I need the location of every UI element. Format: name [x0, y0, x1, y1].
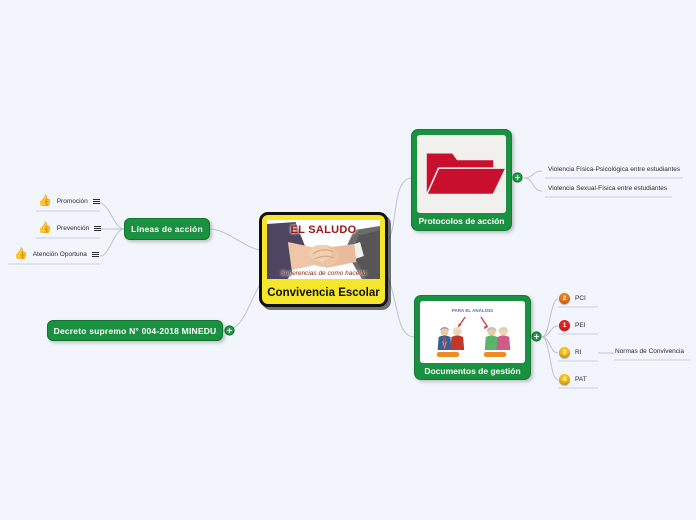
hamburger-icon[interactable] [94, 225, 101, 232]
leaf-pci[interactable]: 2 PCI [559, 293, 586, 304]
expand-node-icon[interactable] [224, 325, 235, 336]
node-decreto-label: Decreto supremo N° 004-2018 MINEDU [54, 326, 217, 336]
badge-number-2: 2 [559, 293, 570, 304]
node-decreto-supremo[interactable]: Decreto supremo N° 004-2018 MINEDU [47, 320, 223, 341]
node-lineas-label: Líneas de acción [131, 224, 203, 234]
leaf-violencia-fisica-psicologica[interactable]: Violencia Física-Psicológica entre estud… [548, 166, 680, 173]
leaf-violencia-sexual-fisica[interactable]: Violencia Sexual-Física entre estudiante… [548, 185, 667, 192]
protocolos-thumbnail [417, 135, 506, 213]
node-protocolos-de-accion[interactable]: Protocolos de acción [411, 129, 512, 231]
leaf-ri[interactable]: 3 RI [559, 347, 582, 358]
leaf-pei[interactable]: 1 PEI [559, 320, 585, 331]
leaf-pei-label: PEI [575, 322, 585, 329]
leaf-violencia-sexual-fisica-label: Violencia Sexual-Física entre estudiante… [548, 185, 667, 192]
leaf-violencia-fisica-psicologica-label: Violencia Física-Psicológica entre estud… [548, 166, 680, 173]
badge-number-1: 1 [559, 320, 570, 331]
leaf-promocion-label: Promoción [57, 198, 88, 205]
leaf-pat-label: PAT [575, 376, 587, 383]
hamburger-icon[interactable] [92, 251, 99, 258]
leaf-prevencion-label: Prevención [57, 225, 90, 232]
leaf-atencion-oportuna[interactable]: 👍 Atención Oportuna [14, 249, 99, 260]
leaf-ri-label: RI [575, 349, 582, 356]
node-documentos-label: Documentos de gestión [420, 363, 525, 380]
badge-number-3: 3 [559, 347, 570, 358]
svg-text:PARA EL ANÁLISIS: PARA EL ANÁLISIS [452, 307, 493, 313]
central-node-image: EL SALUDO Sugerencias de como hacerlo [267, 220, 380, 279]
central-node-convivencia-escolar[interactable]: EL SALUDO Sugerencias de como hacerlo Co… [259, 212, 388, 307]
expand-node-icon[interactable] [512, 172, 523, 183]
leaf-pat[interactable]: 4 PAT [559, 374, 587, 385]
two-couples-illustration: PARA EL ANÁLISIS [420, 301, 525, 363]
badge-number-4: 4 [559, 374, 570, 385]
red-open-folder-icon [417, 135, 506, 213]
leaf-normas-de-convivencia[interactable]: Normas de Convivencia [615, 348, 684, 355]
mindmap-canvas[interactable]: EL SALUDO Sugerencias de como hacerlo Co… [0, 0, 696, 520]
leaf-prevencion[interactable]: 👍 Prevención [38, 223, 101, 234]
node-lineas-de-accion[interactable]: Líneas de acción [124, 218, 210, 240]
thumbs-up-icon: 👍 [14, 249, 28, 260]
central-image-title: EL SALUDO [267, 224, 380, 236]
hamburger-icon[interactable] [93, 198, 100, 205]
documentos-thumbnail: PARA EL ANÁLISIS [420, 301, 525, 363]
expand-node-icon[interactable] [531, 331, 542, 342]
thumbs-up-icon: 👍 [38, 196, 52, 207]
leaf-pci-label: PCI [575, 295, 586, 302]
node-documentos-de-gestion[interactable]: PARA EL ANÁLISIS [414, 295, 531, 380]
central-image-subtitle: Sugerencias de como hacerlo [267, 270, 380, 277]
node-protocolos-label: Protocolos de acción [417, 213, 506, 230]
leaf-atencion-oportuna-label: Atención Oportuna [33, 251, 87, 258]
thumbs-up-icon: 👍 [38, 223, 52, 234]
central-node-label: Convivencia Escolar [267, 279, 380, 308]
leaf-normas-de-convivencia-label: Normas de Convivencia [615, 348, 684, 355]
leaf-promocion[interactable]: 👍 Promoción [38, 196, 100, 207]
